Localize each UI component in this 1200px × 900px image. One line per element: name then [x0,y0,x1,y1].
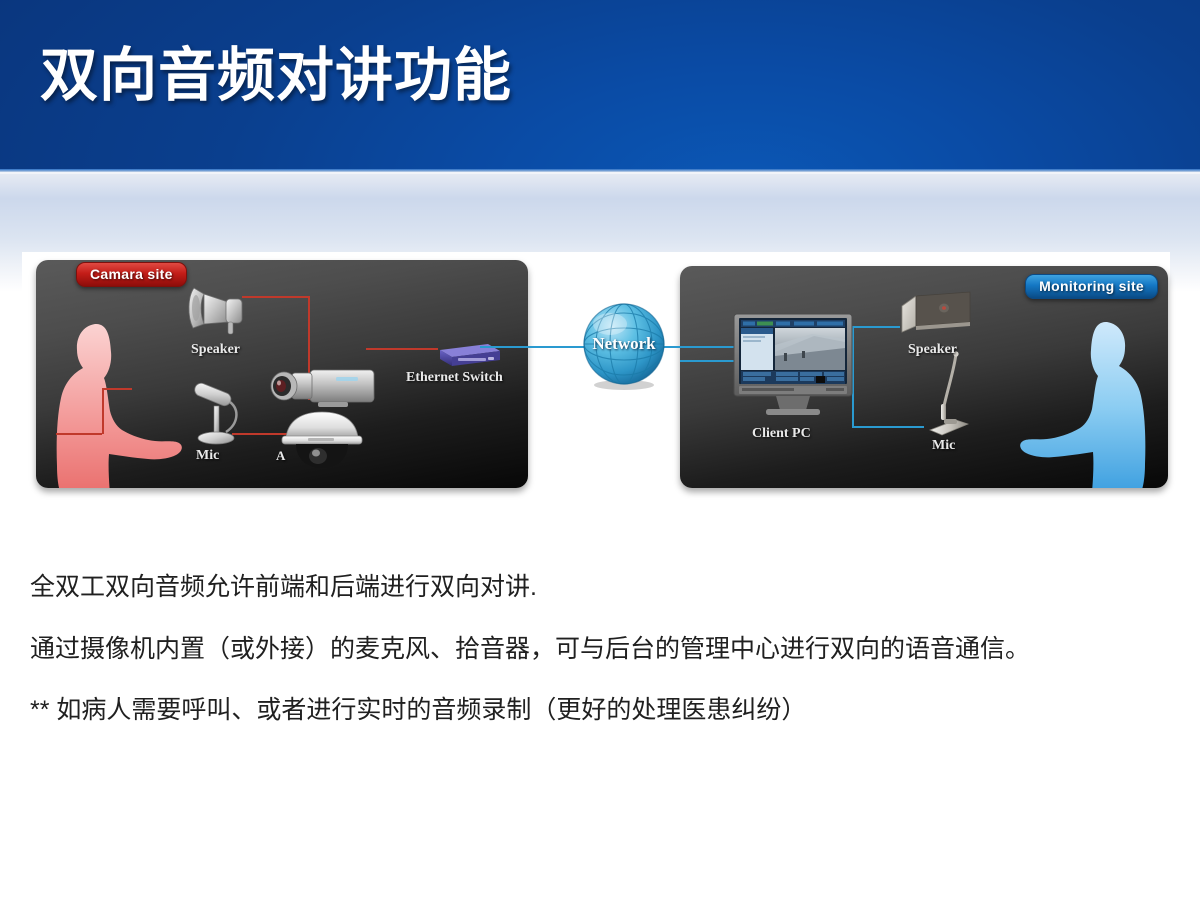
ethernet-switch-label: Ethernet Switch [406,370,503,386]
cable-mic-feed [852,426,924,428]
monitoring-site-panel: Monitoring site [680,266,1168,488]
page-title: 双向音频对讲功能 [40,46,512,107]
paragraph-3: ** 如病人需要呼叫、或者进行实时的音频录制（更好的处理医患纠纷） [30,693,1150,729]
camera-site-panel: Camara site [36,260,528,488]
cable-left-upper [102,388,132,390]
cable-left-edge [56,433,102,435]
architecture-diagram: Camara site [22,252,1170,496]
camera-partial-label: A [276,448,285,464]
box-speaker-icon [898,288,974,340]
monitoring-mic-label: Mic [932,438,955,454]
monitoring-site-badge: Monitoring site [1025,274,1158,299]
slide-body: 全双工双向音频允许前端和后端进行双向对讲. 通过摄像机内置（或外接）的麦克风、拾… [30,570,1150,729]
horn-speaker-icon [184,282,252,340]
camera-site-badge: Camara site [76,262,187,287]
cable-left-vertical [102,388,104,434]
dome-camera-icon [274,408,370,470]
cable-speaker-feed [852,326,900,328]
monitoring-site-person-icon [1018,314,1150,488]
gooseneck-mic-icon [924,350,974,438]
desk-mic-icon [186,380,250,452]
cable-camera-to-switch [366,348,438,350]
network-cloud: Network [578,300,670,392]
network-link-left [480,346,586,348]
client-pc-icon [732,312,854,422]
monitoring-speaker-label: Speaker [908,342,957,358]
paragraph-1: 全双工双向音频允许前端和后端进行双向对讲. [30,570,1150,606]
cable-speaker-horizontal [242,296,310,298]
camera-site-speaker-label: Speaker [191,342,240,358]
camera-site-mic-label: Mic [196,448,219,464]
slide-header: 双向音频对讲功能 [0,0,1200,172]
client-pc-label: Client PC [752,426,811,442]
globe-icon [578,300,670,392]
paragraph-2: 通过摄像机内置（或外接）的麦克风、拾音器，可与后台的管理中心进行双向的语音通信。 [30,632,1150,668]
cable-pc-inbound [680,360,736,362]
camera-site-person-icon [52,316,184,488]
